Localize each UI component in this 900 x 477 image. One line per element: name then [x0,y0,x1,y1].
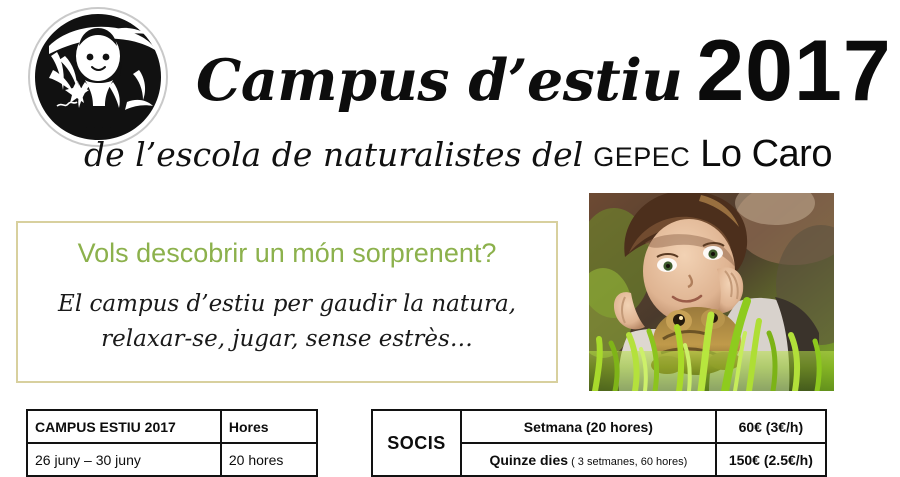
pricing-desc-week: Setmana (20 hores) [461,410,716,443]
pricing-group-label: SOCIS [372,410,461,476]
gepec-logo-icon [27,6,169,148]
subtitle-place-text: Lo Caro [700,135,832,173]
schedule-cell-dates: 26 juny – 30 juny [27,443,221,476]
pricing-table: SOCIS Setmana (20 hores) 60€ (3€/h) Quin… [371,409,827,477]
boy-with-frog-photo [589,193,834,391]
callout-body-line-2: relaxar-se, jugar, sense estrès… [18,322,556,358]
poster-title: Campus d’estiu 2017 [196,28,892,114]
title-main-text: Campus d’estiu [196,52,682,109]
table-row: SOCIS Setmana (20 hores) 60€ (3€/h) [372,410,826,443]
table-row: 26 juny – 30 juny 20 hores [27,443,317,476]
pricing-desc-fortnight-strong: Quinze dies [489,452,568,468]
poster-subtitle: de l’escola de naturalistes del GEPEC Lo… [84,135,832,173]
callout-body-line-1: El campus d’estiu per gaudir la natura, [18,287,556,323]
subtitle-main-text: de l’escola de naturalistes del [84,138,583,171]
poster-header: Campus d’estiu 2017 de l’escola de natur… [0,0,900,190]
pricing-desc-week-strong: Setmana (20 hores) [524,419,653,435]
pricing-amount-week: 60€ (3€/h) [716,410,826,443]
title-year-text: 2017 [696,28,891,114]
callout-body: El campus d’estiu per gaudir la natura, … [18,287,556,358]
schedule-table: CAMPUS ESTIU 2017 Hores 26 juny – 30 jun… [26,409,318,477]
subtitle-org-text: GEPEC [593,144,690,171]
schedule-header-name: CAMPUS ESTIU 2017 [27,410,221,443]
callout-question-text: Vols descobrir un món sorprenent? [18,239,556,269]
callout-box: Vols descobrir un món sorprenent? El cam… [16,221,558,383]
pricing-desc-fortnight: Quinze dies ( 3 setmanes, 60 hores) [461,443,716,476]
pricing-desc-fortnight-note: ( 3 setmanes, 60 hores) [568,456,687,468]
pricing-amount-fortnight: 150€ (2.5€/h) [716,443,826,476]
schedule-cell-hours: 20 hores [221,443,317,476]
schedule-header-hours: Hores [221,410,317,443]
table-header-row: CAMPUS ESTIU 2017 Hores [27,410,317,443]
